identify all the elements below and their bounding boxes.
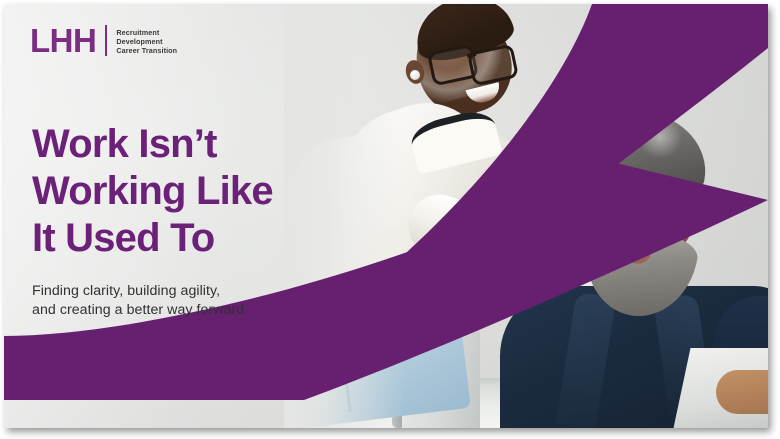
logo-divider-rule — [105, 25, 107, 56]
subtitle-line-1: Finding clarity, building agility, — [32, 282, 322, 301]
man-hand — [716, 370, 768, 414]
slide-frame: LHH Recruitment Development Career Trans… — [4, 4, 768, 428]
logo-tagline-line-1: Recruitment — [116, 28, 177, 37]
headline-line-3: It Used To — [32, 215, 332, 262]
subtitle-line-2: and creating a better way forward — [32, 301, 322, 320]
logo-tagline-line-3: Career Transition — [116, 46, 177, 55]
page-subtitle: Finding clarity, building agility, and c… — [32, 282, 322, 320]
page-title: Work Isn’t Working Like It Used To — [32, 121, 332, 262]
logo-tagline: Recruitment Development Career Transitio… — [116, 27, 177, 56]
lhh-logo: LHH Recruitment Development Career Trans… — [30, 24, 177, 58]
woman-earring — [410, 70, 420, 80]
logo-wordmark: LHH — [30, 24, 96, 58]
headline-line-2: Working Like — [32, 168, 332, 215]
hero-photo — [284, 4, 768, 428]
headline-line-1: Work Isn’t — [32, 121, 332, 168]
text-column: LHH Recruitment Development Career Trans… — [4, 4, 344, 428]
logo-tagline-line-2: Development — [116, 37, 177, 46]
